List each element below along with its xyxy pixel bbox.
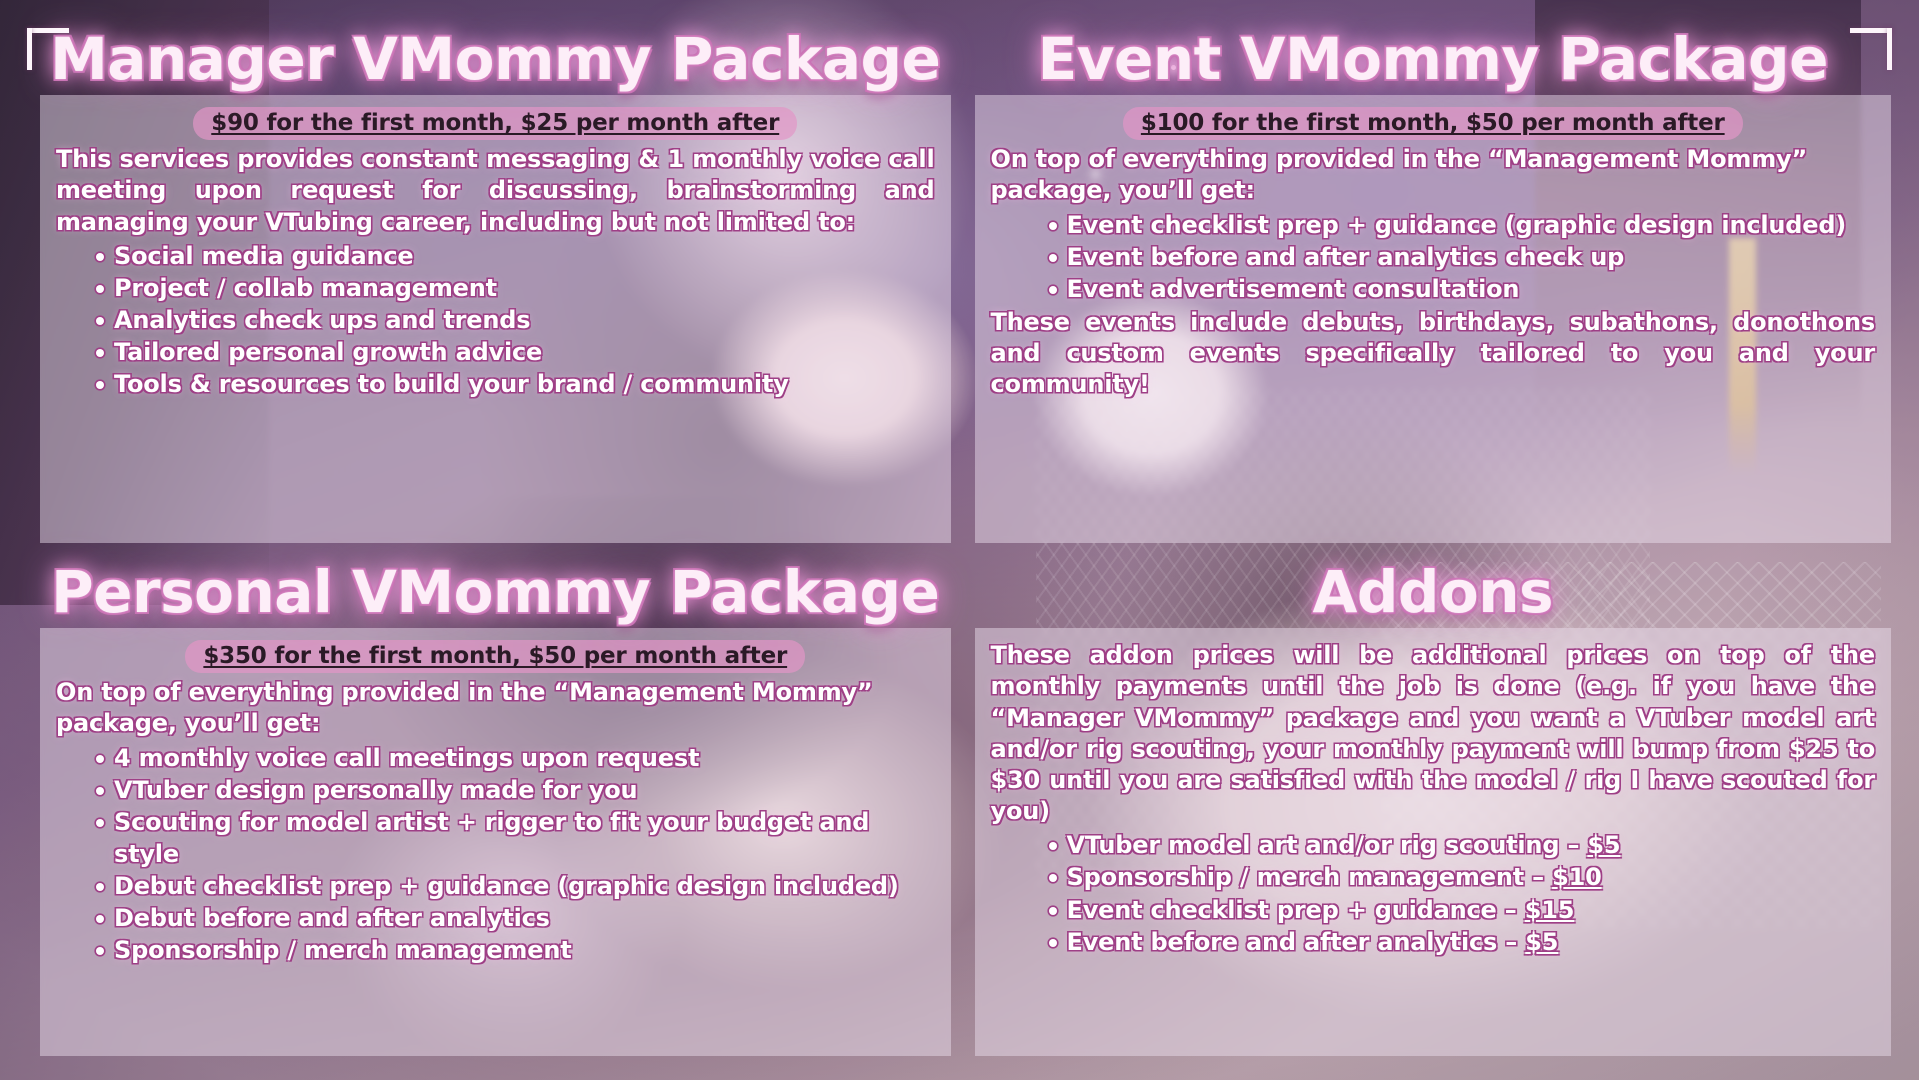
list-item: 4 monthly voice call meetings upon reque… <box>94 742 935 774</box>
price-row: $350 for the first month, $50 per month … <box>56 640 935 673</box>
package-bullets-personal: 4 monthly voice call meetings upon reque… <box>56 742 935 967</box>
list-item: VTuber model art and/or rig scouting – $… <box>1047 829 1876 861</box>
list-item: Sponsorship / merch management – $10 <box>1047 861 1876 893</box>
package-card-addons: Addons These addon prices will be additi… <box>969 543 1892 1056</box>
list-item: Event advertisement consultation <box>1047 273 1876 305</box>
package-intro-personal: On top of everything provided in the “Ma… <box>56 677 935 739</box>
price-row: $100 for the first month, $50 per month … <box>991 107 1876 140</box>
price-row: $90 for the first month, $25 per month a… <box>56 107 935 140</box>
package-body-addons: These addon prices will be additional pr… <box>975 628 1892 1056</box>
corner-bracket-top-left <box>27 28 69 70</box>
package-body-event: $100 for the first month, $50 per month … <box>975 95 1892 543</box>
package-intro-addons: These addon prices will be additional pr… <box>991 640 1876 827</box>
package-title-addons: Addons <box>975 563 1892 628</box>
list-item: Debut before and after analytics <box>94 902 935 934</box>
list-item: Analytics check ups and trends <box>94 304 935 336</box>
price-badge-personal: $350 for the first month, $50 per month … <box>185 640 805 673</box>
package-bullets-event: Event checklist prep + guidance (graphic… <box>991 209 1876 305</box>
package-bullets-addons: VTuber model art and/or rig scouting – $… <box>991 829 1876 958</box>
packages-grid: Manager VMommy Package $90 for the first… <box>0 0 1919 1080</box>
list-item: Project / collab management <box>94 272 935 304</box>
package-card-event: Event VMommy Package $100 for the first … <box>969 30 1892 543</box>
price-badge-event: $100 for the first month, $50 per month … <box>1123 107 1743 140</box>
list-item: Scouting for model artist + rigger to fi… <box>94 806 935 870</box>
package-intro-manager: This services provides constant messagin… <box>56 144 935 238</box>
price-badge-manager: $90 for the first month, $25 per month a… <box>193 107 797 140</box>
list-item: VTuber design personally made for you <box>94 774 935 806</box>
package-bullets-manager: Social media guidance Project / collab m… <box>56 240 935 401</box>
list-item: Tailored personal growth advice <box>94 336 935 368</box>
list-item: Sponsorship / merch management <box>94 934 935 966</box>
package-card-personal: Personal VMommy Package $350 for the fir… <box>28 543 951 1056</box>
list-item: Tools & resources to build your brand / … <box>94 368 935 400</box>
package-title-event: Event VMommy Package <box>975 30 1892 95</box>
package-title-manager: Manager VMommy Package <box>40 30 951 95</box>
package-title-personal: Personal VMommy Package <box>40 563 951 628</box>
corner-bracket-top-right <box>1850 28 1892 70</box>
list-item: Event checklist prep + guidance (graphic… <box>1047 209 1876 241</box>
package-card-manager: Manager VMommy Package $90 for the first… <box>28 30 951 543</box>
package-intro-event: On top of everything provided in the “Ma… <box>991 144 1876 206</box>
list-item: Debut checklist prep + guidance (graphic… <box>94 870 935 902</box>
package-outro-event: These events include debuts, birthdays, … <box>991 307 1876 401</box>
list-item: Event checklist prep + guidance – $15 <box>1047 894 1876 926</box>
list-item: Event before and after analytics – $5 <box>1047 926 1876 958</box>
list-item: Social media guidance <box>94 240 935 272</box>
package-body-manager: $90 for the first month, $25 per month a… <box>40 95 951 543</box>
package-body-personal: $350 for the first month, $50 per month … <box>40 628 951 1056</box>
list-item: Event before and after analytics check u… <box>1047 241 1876 273</box>
